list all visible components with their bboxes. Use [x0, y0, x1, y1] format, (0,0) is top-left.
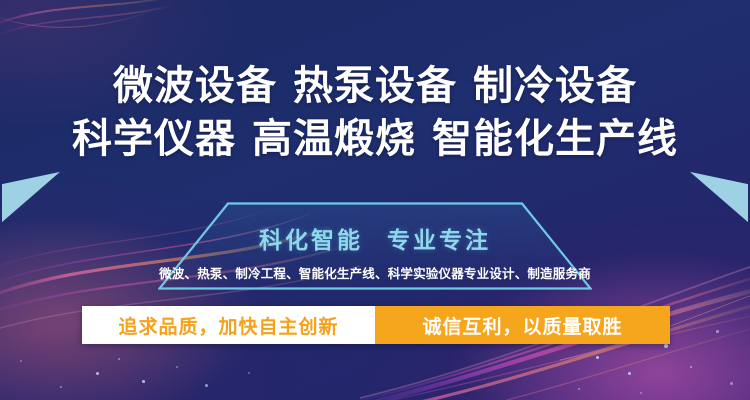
tagline-panel: 科化智能专业专注 微波、热泵、制冷工程、智能化生产线、科学实验仪器专业设计、制造… — [158, 202, 592, 290]
headline-item-calcination: 高温煅烧 — [252, 117, 416, 161]
slogan-bar: 追求品质，加快自主创新 诚信互利，以质量取胜 — [82, 306, 670, 344]
headline-item-instruments: 科学仪器 — [72, 117, 236, 161]
tagline-right-text: 专业专注 — [387, 227, 491, 253]
right-arrow-icon — [690, 172, 748, 222]
headline-item-microwave: 微波设备 — [113, 64, 277, 108]
tagline-text: 科化智能专业专注 — [158, 221, 592, 255]
slogan-left[interactable]: 追求品质，加快自主创新 — [82, 306, 375, 344]
headline-item-heatpump: 热泵设备 — [293, 64, 457, 108]
promo-banner: 微波设备热泵设备制冷设备 科学仪器高温煅烧智能化生产线 科化智能专业专注 微波、… — [0, 0, 750, 400]
headline-line-1: 微波设备热泵设备制冷设备 — [0, 60, 750, 113]
headline-block: 微波设备热泵设备制冷设备 科学仪器高温煅烧智能化生产线 — [0, 60, 750, 166]
tagline-left-text: 科化智能 — [259, 227, 363, 253]
slogan-right[interactable]: 诚信互利，以质量取胜 — [375, 306, 670, 344]
panel-subline: 微波、热泵、制冷工程、智能化生产线、科学实验仪器专业设计、制造服务商 — [146, 263, 604, 282]
headline-item-smartline: 智能化生产线 — [432, 117, 678, 161]
headline-line-2: 科学仪器高温煅烧智能化生产线 — [0, 113, 750, 166]
left-arrow-icon — [2, 172, 60, 222]
headline-item-refrigeration: 制冷设备 — [473, 64, 637, 108]
